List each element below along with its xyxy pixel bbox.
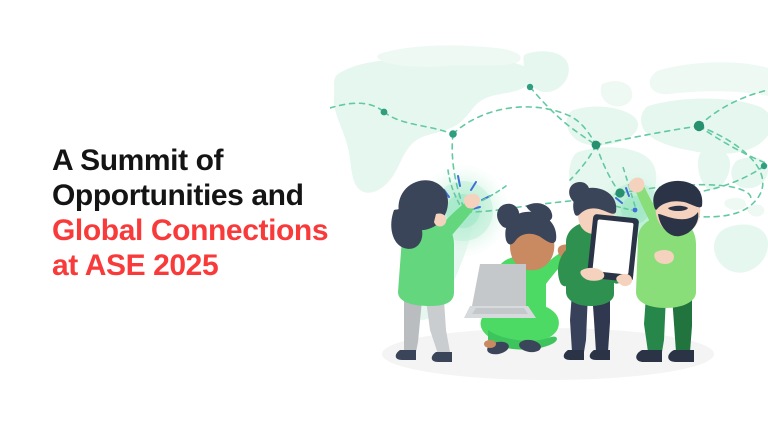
map-node-dot: [633, 208, 638, 213]
headline: A Summit of Opportunities and Global Con…: [52, 143, 392, 283]
promo-banner: A Summit of Opportunities and Global Con…: [0, 0, 768, 432]
map-node-dot: [592, 141, 601, 150]
map-node-dot: [615, 188, 624, 197]
headline-line-3: Global Connections: [52, 213, 392, 248]
world-map-landmass: [334, 45, 768, 320]
headline-line-4: at ASE 2025: [52, 248, 392, 283]
headline-line-2: Opportunities and: [52, 178, 392, 213]
global-network-illustration: [330, 0, 768, 432]
map-node-dot: [694, 121, 704, 131]
map-node-dot: [761, 163, 767, 169]
map-node-dot: [449, 130, 457, 138]
map-node-dot: [381, 109, 388, 116]
headline-line-1: A Summit of: [52, 143, 392, 178]
map-node-dot: [527, 84, 533, 90]
